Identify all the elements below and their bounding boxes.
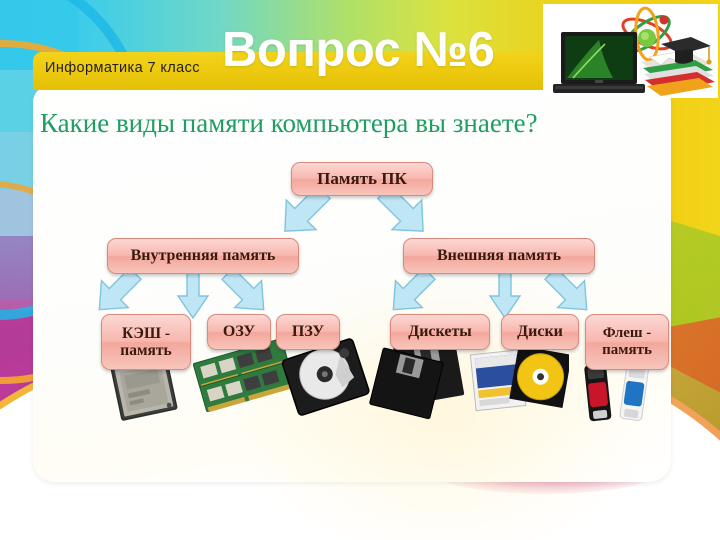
node-pc-memory[interactable]: Память ПК: [291, 162, 433, 196]
node-cache-memory[interactable]: КЭШ - память: [101, 314, 191, 370]
node-discs[interactable]: Диски: [501, 314, 579, 350]
arrow-internal-to-ozu: [176, 268, 210, 320]
subject-label: Информатика 7 класс: [45, 60, 200, 76]
photo-hard-disk: [281, 338, 371, 418]
node-internal-memory[interactable]: Внутренняя память: [107, 238, 299, 274]
page-title: Вопрос №6: [222, 22, 494, 78]
node-pzu[interactable]: ПЗУ: [276, 314, 340, 350]
node-external-memory[interactable]: Внешняя память: [403, 238, 595, 274]
laptop-icon: [553, 32, 645, 93]
slide-canvas: Информатика 7 класс Вопрос №6 Какие виды…: [0, 0, 720, 540]
node-flash-memory[interactable]: Флеш - память: [585, 314, 669, 370]
arrow-external-to-discs: [488, 268, 522, 320]
photo-optical-discs: [469, 342, 569, 414]
informatics-badge: [543, 4, 718, 98]
node-floppy-disks[interactable]: Дискеты: [390, 314, 490, 350]
memory-types-diagram: Память ПК Внутренняя память Внешняя памя…: [33, 86, 671, 482]
node-ozu[interactable]: ОЗУ: [207, 314, 271, 350]
